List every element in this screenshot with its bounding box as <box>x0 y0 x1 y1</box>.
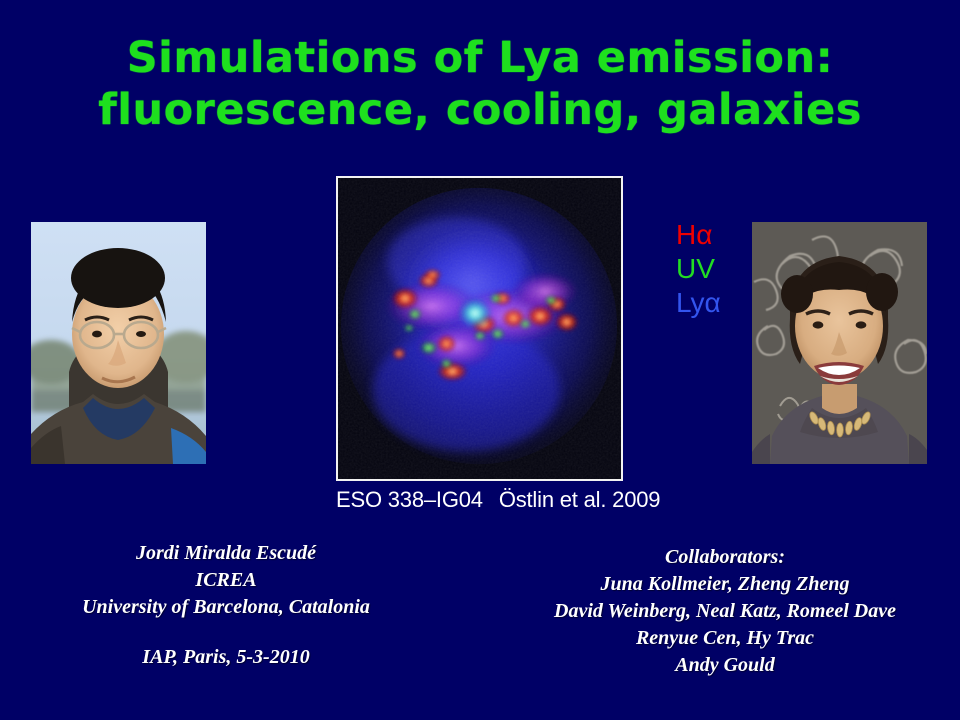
author-block: Jordi Miralda Escudé ICREA University of… <box>0 540 452 671</box>
legend-item-lyalpha: Lyα <box>676 286 721 320</box>
portrait-left-graphic <box>31 222 206 464</box>
collaborators-line-2: David Weinberg, Neal Katz, Romeel Dave <box>490 598 960 625</box>
caption-reference: Östlin et al. 2009 <box>499 487 661 512</box>
collaborators-line-3: Renyue Cen, Hy Trac <box>490 625 960 652</box>
title-line-1: Simulations of Lya emission: <box>0 32 960 84</box>
portrait-photo-right <box>752 222 927 464</box>
author-name: Jordi Miralda Escudé <box>0 540 452 567</box>
author-spacer <box>0 621 452 644</box>
page-title: Simulations of Lya emission: fluorescenc… <box>0 32 960 136</box>
title-line-2: fluorescence, cooling, galaxies <box>0 84 960 136</box>
portrait-right-graphic <box>752 222 927 464</box>
caption-object: ESO 338–IG04 <box>336 487 483 512</box>
galaxy-composite-image <box>336 176 623 481</box>
collaborators-line-1: Juna Kollmeier, Zheng Zheng <box>490 571 960 598</box>
collaborators-line-4: Andy Gould <box>490 652 960 679</box>
author-affiliation: University of Barcelona, Catalonia <box>0 594 452 621</box>
collaborators-block: Collaborators: Juna Kollmeier, Zheng Zhe… <box>490 544 960 679</box>
legend-item-uv: UV <box>676 252 721 286</box>
author-institute: ICREA <box>0 567 452 594</box>
galaxy-image-canvas <box>338 178 621 479</box>
color-channel-legend: Hα UV Lyα <box>676 218 721 320</box>
presentation-slide: Simulations of Lya emission: fluorescenc… <box>0 0 960 720</box>
legend-item-halpha: Hα <box>676 218 721 252</box>
talk-venue-date: IAP, Paris, 5-3-2010 <box>0 644 452 671</box>
collaborators-heading: Collaborators: <box>490 544 960 571</box>
portrait-photo-left <box>31 222 206 464</box>
figure-caption: ESO 338–IG04Östlin et al. 2009 <box>336 487 626 513</box>
